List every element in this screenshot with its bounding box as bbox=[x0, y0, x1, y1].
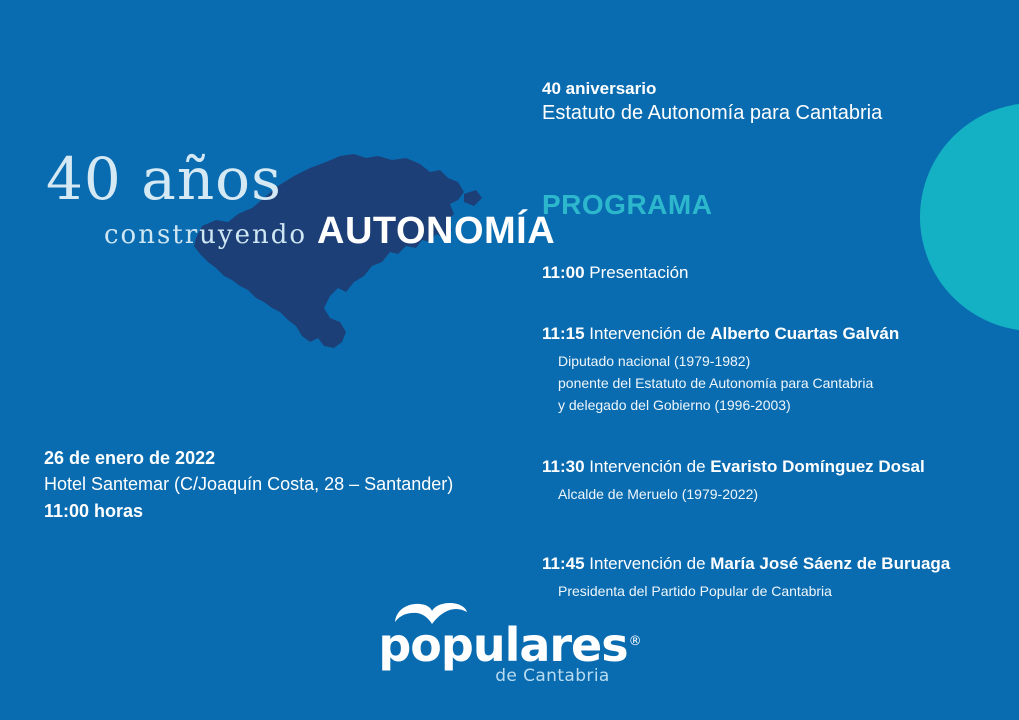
right-column: 40 aniversario Estatuto de Autonomía par… bbox=[542, 0, 982, 720]
venue-date: 26 de enero de 2022 bbox=[44, 445, 453, 471]
header-anniversary: 40 aniversario bbox=[542, 78, 882, 100]
program-item-time: 11:15 bbox=[542, 324, 585, 343]
program-item-verb: Intervención de bbox=[589, 554, 705, 573]
partido-popular-logo: populares® de Cantabria bbox=[0, 616, 1019, 692]
program-item-detail: Alcalde de Meruelo (1979-2022) bbox=[558, 483, 982, 505]
brand-tagline: construyendoAUTONOMÍA bbox=[104, 212, 555, 250]
brand-autonomia: AUTONOMÍA bbox=[317, 210, 555, 252]
program-item: 11:30 Intervención de Evaristo Domínguez… bbox=[542, 456, 982, 505]
program-item-detail: y delegado del Gobierno (1996-2003) bbox=[558, 394, 982, 416]
registered-mark-icon: ® bbox=[629, 634, 641, 649]
program-list: 11:00 Presentación 11:15 Intervención de… bbox=[542, 262, 982, 628]
program-item: 11:45 Intervención de María José Sáenz d… bbox=[542, 553, 982, 602]
brand-construyendo: construyendo bbox=[104, 220, 307, 250]
program-item-time: 11:00 bbox=[542, 263, 585, 282]
program-item: 11:00 Presentación bbox=[542, 262, 982, 284]
seagull-icon bbox=[394, 602, 468, 630]
venue-time: 11:00 horas bbox=[44, 498, 453, 524]
program-item-person: María José Sáenz de Buruaga bbox=[710, 554, 950, 573]
program-item-details: Alcalde de Meruelo (1979-2022) bbox=[542, 483, 982, 505]
program-item-person: Evaristo Domínguez Dosal bbox=[710, 457, 924, 476]
program-item-detail: ponente del Estatuto de Autonomía para C… bbox=[558, 372, 982, 394]
header-block: 40 aniversario Estatuto de Autonomía par… bbox=[542, 78, 882, 127]
venue-place: Hotel Santemar (C/Joaquín Costa, 28 – Sa… bbox=[44, 471, 453, 497]
program-item-details: Diputado nacional (1979-1982) ponente de… bbox=[542, 350, 982, 416]
program-item-verb: Intervención de bbox=[589, 324, 705, 343]
brand-40-anos: 40 años bbox=[46, 150, 282, 208]
program-item-time: 11:30 bbox=[542, 457, 585, 476]
program-item-detail: Presidenta del Partido Popular de Cantab… bbox=[558, 580, 982, 602]
program-item: 11:15 Intervención de Alberto Cuartas Ga… bbox=[542, 323, 982, 416]
program-item-verb: Intervención de bbox=[589, 457, 705, 476]
program-heading: PROGRAMA bbox=[542, 189, 712, 221]
brand-lockup: 40 años construyendoAUTONOMÍA bbox=[42, 142, 482, 382]
program-item-details: Presidenta del Partido Popular de Cantab… bbox=[542, 580, 982, 602]
program-item-person: Presentación bbox=[589, 263, 688, 282]
program-item-detail: Diputado nacional (1979-1982) bbox=[558, 350, 982, 372]
program-item-person: Alberto Cuartas Galván bbox=[710, 324, 899, 343]
header-subtitle: Estatuto de Autonomía para Cantabria bbox=[542, 100, 882, 126]
program-item-time: 11:45 bbox=[542, 554, 585, 573]
venue-block: 26 de enero de 2022 Hotel Santemar (C/Jo… bbox=[44, 445, 453, 524]
poster-canvas: 40 años construyendoAUTONOMÍA 26 de ener… bbox=[0, 0, 1019, 720]
